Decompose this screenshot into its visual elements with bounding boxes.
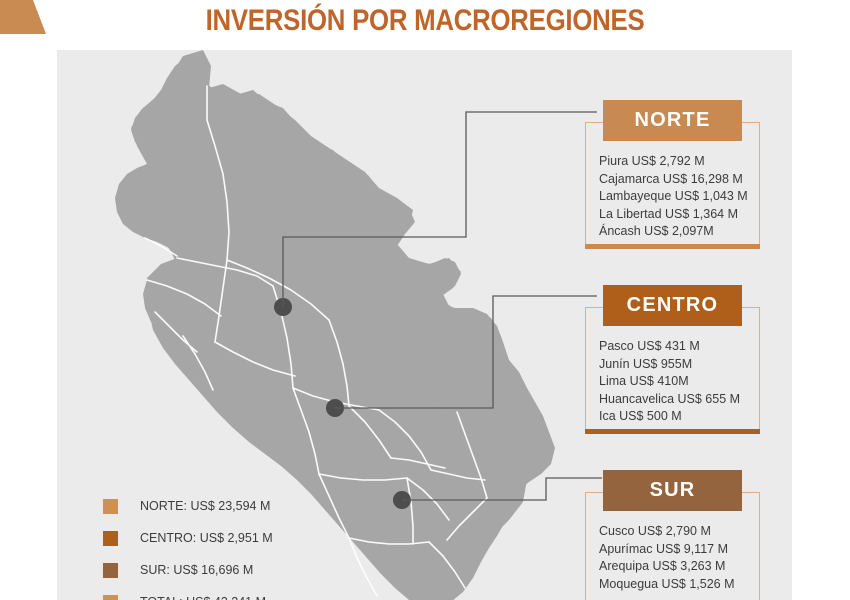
- panel-norte-item: La Libertad US$ 1,364 M: [599, 206, 760, 224]
- panel-centro-body: Pasco US$ 431 M Junín US$ 955M Lima US$ …: [585, 326, 760, 436]
- leader-sur: [402, 478, 602, 500]
- panel-centro-item: Lima US$ 410M: [599, 373, 760, 391]
- page-title: INVERSIÓN POR MACROREGIONES: [60, 4, 791, 38]
- panel-sur-item: Arequipa US$ 3,263 M: [599, 558, 760, 576]
- panel-centro[interactable]: CENTRO Pasco US$ 431 M Junín US$ 955M Li…: [585, 285, 760, 436]
- legend-item-norte: NORTE: US$ 23,594 M: [103, 490, 273, 522]
- panel-centro-header: CENTRO: [603, 285, 742, 326]
- leader-centro: [335, 296, 597, 408]
- legend-swatch-sur: [103, 563, 118, 578]
- slide-root: INVERSIÓN POR MACROREGIONES: [0, 0, 850, 600]
- legend-item-total: TOTAL: US$ 43,241 M: [103, 586, 273, 600]
- leader-norte: [283, 112, 597, 307]
- panel-sur-item: Moquegua US$ 1,526 M: [599, 576, 760, 594]
- legend-swatch-centro: [103, 531, 118, 546]
- panel-sur-header: SUR: [603, 470, 742, 511]
- panel-centro-item: Huancavelica US$ 655 M: [599, 391, 760, 409]
- panel-norte-item: Áncash US$ 2,097M: [599, 223, 760, 241]
- corner-accent-shape: [0, 0, 46, 34]
- legend-label-centro: CENTRO: US$ 2,951 M: [140, 531, 273, 545]
- panel-norte-body: Piura US$ 2,792 M Cajamarca US$ 16,298 M…: [585, 141, 760, 251]
- panel-norte-item: Cajamarca US$ 16,298 M: [599, 171, 760, 189]
- panel-centro-item: Ica US$ 500 M: [599, 408, 760, 426]
- panel-norte-header: NORTE: [603, 100, 742, 141]
- legend-label-sur: SUR: US$ 16,696 M: [140, 563, 253, 577]
- panel-norte-item: Lambayeque US$ 1,043 M: [599, 188, 760, 206]
- panel-sur-item: Apurímac US$ 9,117 M: [599, 541, 760, 559]
- content-canvas: NORTE Piura US$ 2,792 M Cajamarca US$ 16…: [57, 50, 792, 600]
- legend-label-norte: NORTE: US$ 23,594 M: [140, 499, 270, 513]
- legend-swatch-total: [103, 595, 118, 600]
- panel-sur-body: Cusco US$ 2,790 M Apurímac US$ 9,117 M A…: [585, 511, 760, 600]
- panel-sur[interactable]: SUR Cusco US$ 2,790 M Apurímac US$ 9,117…: [585, 470, 760, 600]
- panel-norte[interactable]: NORTE Piura US$ 2,792 M Cajamarca US$ 16…: [585, 100, 760, 251]
- panel-norte-item: Piura US$ 2,792 M: [599, 153, 760, 171]
- panel-sur-item: Cusco US$ 2,790 M: [599, 523, 760, 541]
- panel-centro-item: Pasco US$ 431 M: [599, 338, 760, 356]
- legend: NORTE: US$ 23,594 M CENTRO: US$ 2,951 M …: [103, 490, 273, 600]
- legend-label-total: TOTAL: US$ 43,241 M: [140, 595, 266, 600]
- panel-centro-item: Junín US$ 955M: [599, 356, 760, 374]
- legend-item-centro: CENTRO: US$ 2,951 M: [103, 522, 273, 554]
- legend-item-sur: SUR: US$ 16,696 M: [103, 554, 273, 586]
- legend-swatch-norte: [103, 499, 118, 514]
